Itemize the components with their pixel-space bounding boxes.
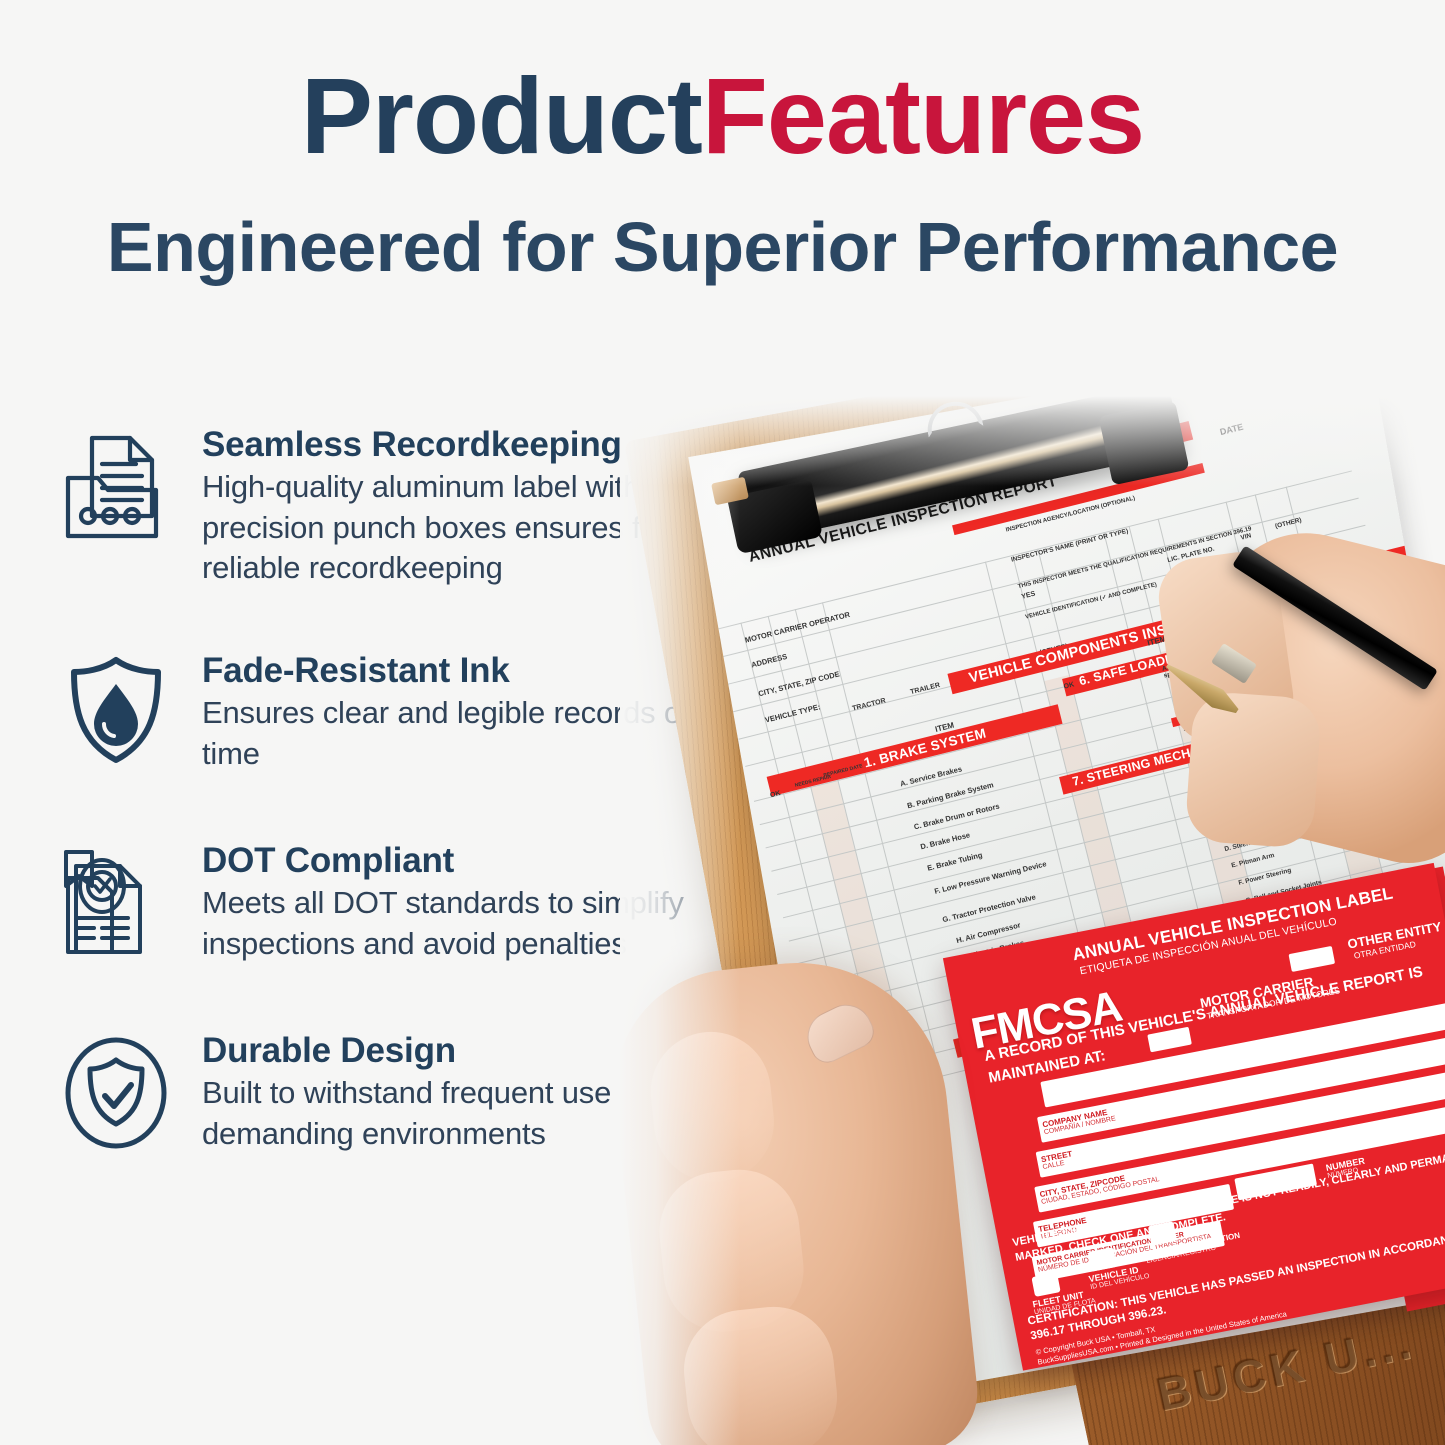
certificate-shield-check-icon bbox=[52, 838, 180, 968]
product-features-infographic: ProductFeatures Engineered for Superior … bbox=[0, 0, 1445, 1445]
document-stack-icon bbox=[52, 424, 180, 554]
shield-droplet-icon bbox=[52, 648, 180, 778]
header-block: ProductFeatures Engineered for Superior … bbox=[0, 62, 1445, 282]
product-photo: BUCK U... bbox=[620, 396, 1445, 1445]
form-date-label: DATE bbox=[1219, 422, 1245, 437]
circle-shield-check-icon bbox=[52, 1028, 180, 1158]
fmcsa-checkbox-fleet-unit[interactable] bbox=[1031, 1272, 1060, 1297]
page-title-part2: Features bbox=[702, 55, 1144, 176]
fmcsa-checkbox-vehicle-id[interactable] bbox=[1088, 1247, 1117, 1272]
page-title-part1: Product bbox=[301, 55, 702, 176]
fmcsa-other-entity-checkbox[interactable] bbox=[1288, 946, 1335, 972]
page-title: ProductFeatures bbox=[0, 62, 1445, 170]
page-subtitle: Engineered for Superior Performance bbox=[0, 212, 1445, 282]
